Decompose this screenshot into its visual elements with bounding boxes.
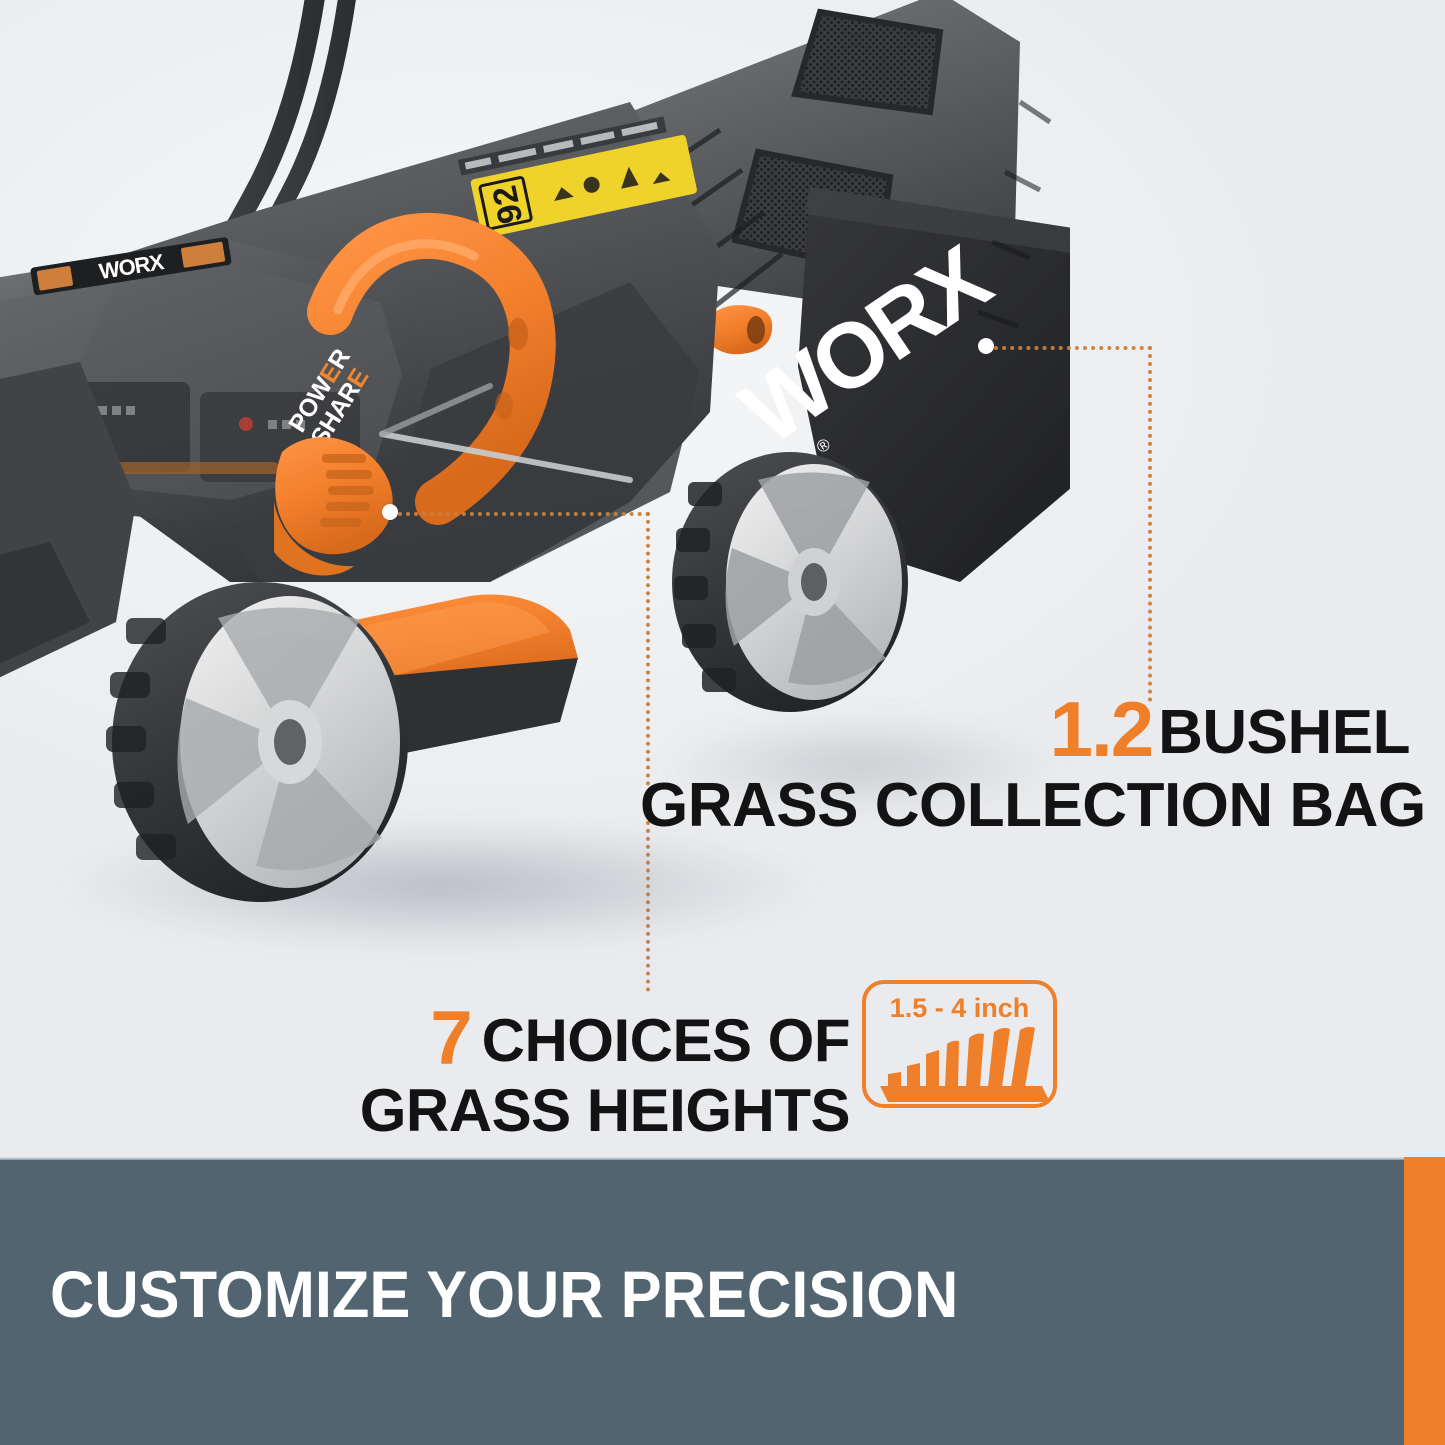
banner-title: CUSTOMIZE YOUR PRECISION <box>50 1256 958 1332</box>
callout-bag-number: 1.2 <box>1050 685 1158 773</box>
callout-heights-number: 7 <box>430 996 481 1081</box>
bottom-banner: CUSTOMIZE YOUR PRECISION <box>0 1157 1445 1445</box>
product-feature-image: WORX ® 92 <box>0 0 1445 1445</box>
callout-grass-collection-bag: 1.2BUSHEL GRASS COLLECTION BAG <box>640 690 1410 837</box>
wheel-rear-right <box>672 452 908 712</box>
callout-grass-heights: 7CHOICES OF GRASS HEIGHTS <box>330 1000 850 1141</box>
callout-heights-line-1: 7CHOICES OF <box>330 1000 850 1078</box>
leader-segment-v <box>1148 346 1152 702</box>
product-photo: WORX ® 92 <box>0 0 1445 1157</box>
grass-height-range-label: 1.5 - 4 inch <box>866 993 1053 1024</box>
grass-blades-icon <box>874 1024 1053 1104</box>
callout-heights-line-2: GRASS HEIGHTS <box>330 1080 850 1141</box>
banner-accent-stripe <box>1404 1157 1445 1445</box>
wheel-front-left <box>106 582 408 902</box>
callout-bag-line-1: 1.2BUSHEL <box>640 690 1410 770</box>
callout-bag-line-2: GRASS COLLECTION BAG <box>640 774 1410 837</box>
callout-heights-line1-rest: CHOICES OF <box>482 1007 850 1074</box>
banner-top-hairline <box>0 1157 1445 1160</box>
grass-height-range-icon: 1.5 - 4 inch <box>862 980 1057 1108</box>
svg-text:92: 92 <box>485 182 530 227</box>
callout-bag-line1-rest: BUSHEL <box>1158 698 1410 767</box>
